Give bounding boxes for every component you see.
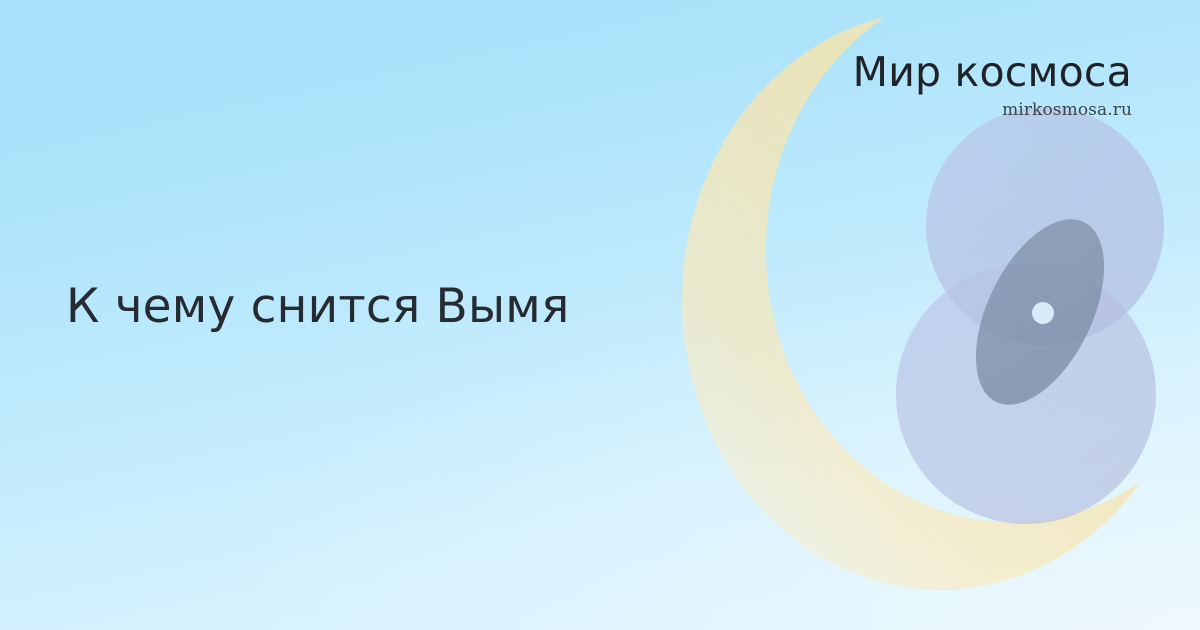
site-logo-domain: mirkosmosa.ru [853, 102, 1132, 119]
site-logo-title: Мир космоса [853, 52, 1132, 93]
social-share-card: Мир космоса mirkosmosa.ru К чему снится … [0, 0, 1200, 630]
shape-center-spark-dot [1032, 302, 1054, 324]
site-logo[interactable]: Мир космоса mirkosmosa.ru [853, 52, 1132, 119]
page-title: К чему снится Вымя [66, 279, 666, 334]
